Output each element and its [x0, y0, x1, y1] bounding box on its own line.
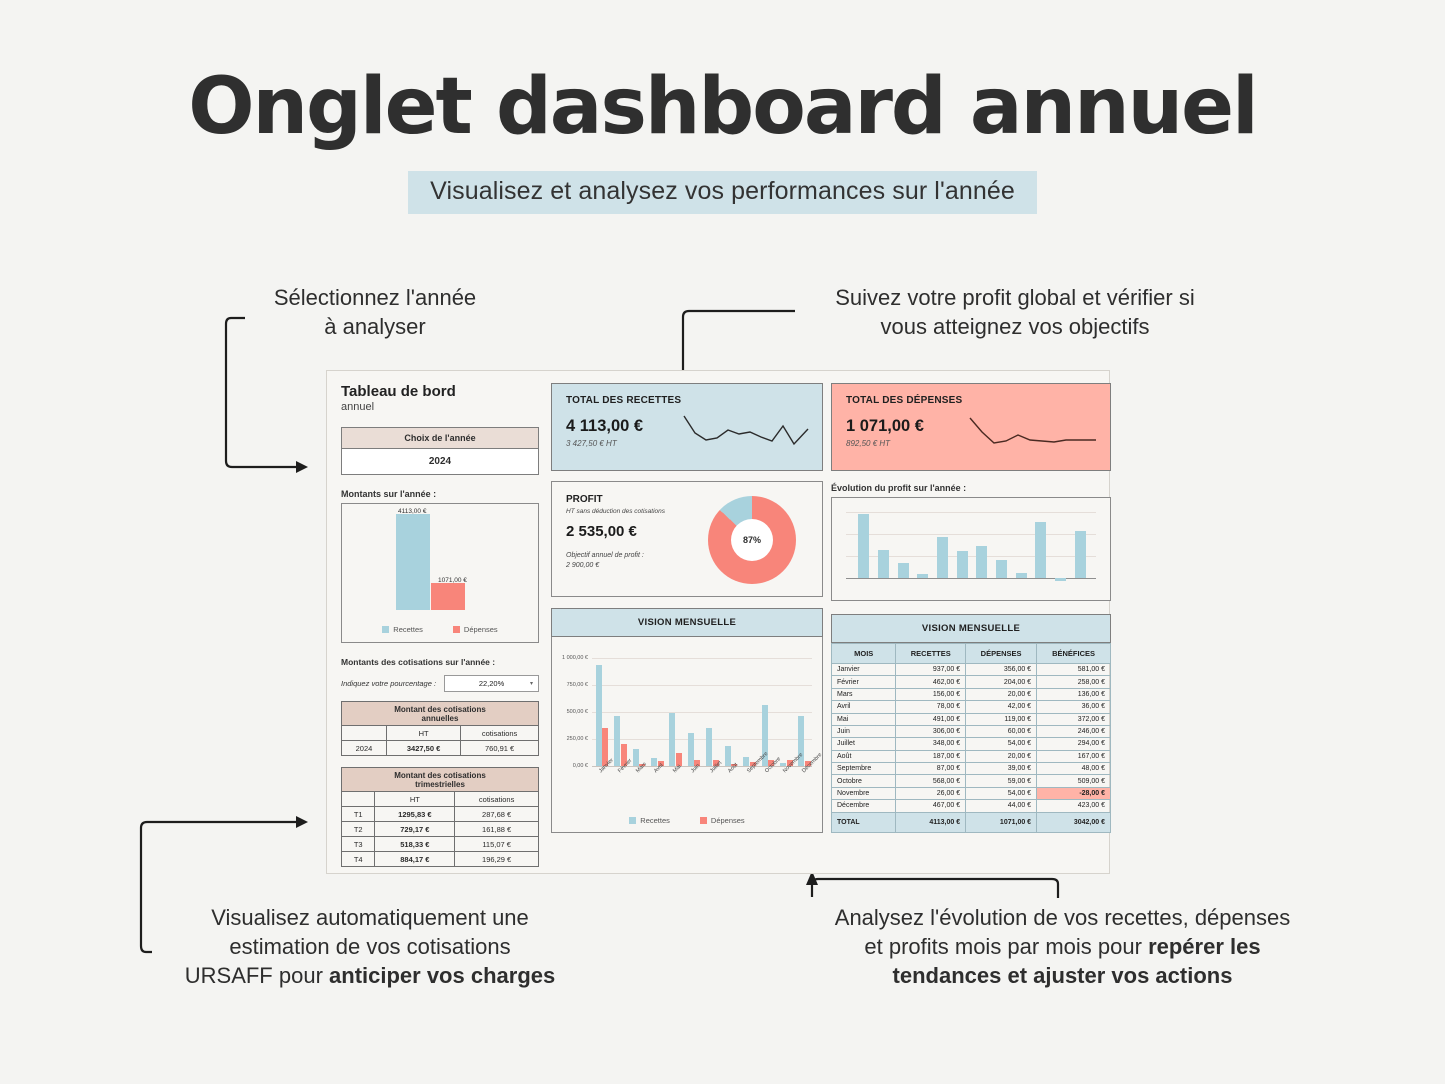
dashboard-heading: Tableau de bord annuel — [341, 383, 539, 413]
cell-benefices: 36,00 € — [1037, 701, 1111, 713]
cell-depenses: 44,00 € — [966, 800, 1037, 812]
cell-recettes: 568,00 € — [896, 775, 966, 787]
evol-bar-3 — [917, 574, 928, 578]
col-recettes: RECETTES — [896, 644, 966, 664]
cell-benefices: 136,00 € — [1037, 688, 1111, 700]
cell-benefices: 48,00 € — [1037, 763, 1111, 775]
cell-depenses: 39,00 € — [966, 763, 1037, 775]
cotis-trim-t2-label: T2 — [342, 822, 375, 837]
cell-mois: Décembre — [832, 800, 896, 812]
table-row: Avril78,00 €42,00 €36,00 € — [832, 701, 1111, 713]
profit-donut-percent: 87% — [731, 519, 773, 561]
evol-bar-9 — [1035, 522, 1046, 578]
table-row: Septembre87,00 €39,00 €48,00 € — [832, 763, 1111, 775]
year-selector-value[interactable]: 2024 — [342, 449, 538, 474]
evolution-chart-label: Évolution du profit sur l'année : — [831, 483, 1111, 493]
cotis-trim-title: Montant des cotisationstrimestrielles — [342, 768, 539, 792]
legend-swatch-recettes — [629, 817, 636, 824]
mc-bar-recettes-4 — [669, 713, 675, 766]
total-benefices: 3042,00 € — [1037, 812, 1111, 832]
cotis-trim-t4-cot: 196,29 € — [455, 852, 539, 867]
cell-depenses: 42,00 € — [966, 701, 1037, 713]
legend-swatch-depenses — [453, 626, 460, 633]
dashboard-heading-sub: annuel — [341, 401, 539, 413]
mc-bar-recettes-7 — [725, 746, 731, 766]
legend-item-recettes: Recettes — [629, 816, 670, 825]
cell-benefices: 423,00 € — [1037, 800, 1111, 812]
cell-mois: Mars — [832, 688, 896, 700]
dashboard-right-column: TOTAL DES DÉPENSES 1 071,00 € 892,50 € H… — [831, 383, 1111, 833]
evol-bar-6 — [976, 546, 987, 578]
cell-depenses: 20,00 € — [966, 688, 1037, 700]
mc-bar-recettes-6 — [706, 728, 712, 766]
cell-recettes: 348,00 € — [896, 738, 966, 750]
cell-recettes: 156,00 € — [896, 688, 966, 700]
cell-recettes: 937,00 € — [896, 664, 966, 676]
mc-ytick-750: 750,00 € — [554, 682, 588, 688]
total-label: TOTAL — [832, 812, 896, 832]
cell-depenses: 54,00 € — [966, 787, 1037, 799]
cell-depenses: 119,00 € — [966, 713, 1037, 725]
dashboard-heading-main: Tableau de bord — [341, 383, 539, 400]
cell-benefices: 294,00 € — [1037, 738, 1111, 750]
cotis-trim-col-cot: cotisations — [455, 792, 539, 807]
cell-mois: Janvier — [832, 664, 896, 676]
cell-depenses: 204,00 € — [966, 676, 1037, 688]
annual-chart-legend: Recettes Dépenses — [342, 625, 538, 634]
percentage-label: Indiquez votre pourcentage : — [341, 679, 436, 688]
table-total-row: TOTAL4113,00 €1071,00 €3042,00 € — [832, 812, 1111, 832]
table-row: Juillet348,00 €54,00 €294,00 € — [832, 738, 1111, 750]
cell-recettes: 467,00 € — [896, 800, 966, 812]
card-recettes-title: TOTAL DES RECETTES — [566, 395, 808, 406]
evol-bar-5 — [957, 551, 968, 578]
percentage-value: 22,20% — [479, 679, 504, 688]
col-benefices: BÉNÉFICES — [1037, 644, 1111, 664]
cell-mois: Juin — [832, 725, 896, 737]
recettes-sparkline — [682, 412, 810, 459]
cell-recettes: 306,00 € — [896, 725, 966, 737]
cotis-trim-t4-ht: 884,17 € — [375, 852, 455, 867]
cotis-trim-t4-label: T4 — [342, 852, 375, 867]
cell-mois: Juillet — [832, 738, 896, 750]
cell-depenses: 20,00 € — [966, 750, 1037, 762]
legend-swatch-recettes — [382, 626, 389, 633]
dashboard-frame: Tableau de bord annuel Choix de l'année … — [326, 370, 1110, 874]
cell-recettes: 462,00 € — [896, 676, 966, 688]
vision-mensuelle-chart-title: VISION MENSUELLE — [551, 608, 823, 637]
evol-bar-8 — [1016, 573, 1027, 578]
cotis-annuelles-col-ht: HT — [386, 726, 460, 741]
table-row: Mars156,00 €20,00 €136,00 € — [832, 688, 1111, 700]
annual-amounts-chart: 4113,00 € 1071,00 € Recettes Dépenses — [341, 503, 539, 643]
table-row: T1 1295,83 € 287,68 € — [342, 807, 539, 822]
table-row: Octobre568,00 €59,00 €509,00 € — [832, 775, 1111, 787]
cell-depenses: 54,00 € — [966, 738, 1037, 750]
vision-mensuelle-table-title: VISION MENSUELLE — [831, 614, 1111, 643]
table-row: T4 884,17 € 196,29 € — [342, 852, 539, 867]
mc-ytick-500: 500,00 € — [554, 709, 588, 715]
cell-mois: Novembre — [832, 787, 896, 799]
cell-mois: Septembre — [832, 763, 896, 775]
mc-bar-recettes-1 — [614, 716, 620, 766]
cell-recettes: 26,00 € — [896, 787, 966, 799]
legend-item-depenses: Dépenses — [700, 816, 745, 825]
evol-bar-7 — [996, 560, 1007, 578]
table-row: Mai491,00 €119,00 €372,00 € — [832, 713, 1111, 725]
table-row: Janvier937,00 €356,00 €581,00 € — [832, 664, 1111, 676]
vision-mensuelle-chart: 1 000,00 € 750,00 € 500,00 € 250,00 € 0,… — [551, 637, 823, 833]
total-depenses: 1071,00 € — [966, 812, 1037, 832]
cotis-annuelles-col-blank — [342, 726, 387, 741]
depenses-sparkline — [968, 412, 1098, 459]
table-row: Août187,00 €20,00 €167,00 € — [832, 750, 1111, 762]
cell-depenses: 59,00 € — [966, 775, 1037, 787]
mc-ytick-0: 0,00 € — [554, 763, 588, 769]
table-row: T2 729,17 € 161,88 € — [342, 822, 539, 837]
cotis-trim-t3-label: T3 — [342, 837, 375, 852]
cotis-trim-t1-cot: 287,68 € — [455, 807, 539, 822]
mc-ytick-250: 250,00 € — [554, 736, 588, 742]
evol-bar-11 — [1075, 531, 1086, 578]
evol-bar-0 — [858, 514, 869, 578]
cell-recettes: 78,00 € — [896, 701, 966, 713]
cotis-trim-t1-ht: 1295,83 € — [375, 807, 455, 822]
cell-benefices: -28,00 € — [1037, 787, 1111, 799]
table-row: Novembre26,00 €54,00 €-28,00 € — [832, 787, 1111, 799]
cotis-trim-t3-ht: 518,33 € — [375, 837, 455, 852]
cell-benefices: 246,00 € — [1037, 725, 1111, 737]
cotis-annuelles-col-cot: cotisations — [461, 726, 539, 741]
cell-benefices: 372,00 € — [1037, 713, 1111, 725]
cell-recettes: 187,00 € — [896, 750, 966, 762]
profit-donut-chart: 87% — [708, 496, 796, 584]
cotis-annuelles-title: Montant des cotisationsannuelles — [342, 702, 539, 726]
cotisations-trimestrielles-table: Montant des cotisationstrimestrielles HT… — [341, 767, 539, 867]
card-depenses-title: TOTAL DES DÉPENSES — [846, 395, 1096, 406]
legend-item-recettes: Recettes — [382, 625, 423, 634]
cell-recettes: 491,00 € — [896, 713, 966, 725]
evol-bar-4 — [937, 537, 948, 578]
mc-bar-recettes-2 — [633, 749, 639, 766]
annual-chart-label: Montants sur l'année : — [341, 489, 539, 499]
evol-bar-1 — [878, 550, 889, 578]
mc-bar-recettes-0 — [596, 665, 602, 766]
cell-depenses: 60,00 € — [966, 725, 1037, 737]
cell-mois: Août — [832, 750, 896, 762]
col-mois: MOIS — [832, 644, 896, 664]
cell-mois: Février — [832, 676, 896, 688]
cotisations-section-label: Montants des cotisations sur l'année : — [341, 657, 539, 667]
cotis-annuelles-year: 2024 — [342, 741, 387, 756]
mc-bar-recettes-3 — [651, 758, 657, 766]
cotis-trim-col-ht: HT — [375, 792, 455, 807]
table-row: Décembre467,00 €44,00 €423,00 € — [832, 800, 1111, 812]
vision-mensuelle-legend: Recettes Dépenses — [552, 816, 822, 825]
cotisations-annuelles-table: Montant des cotisationsannuelles HT coti… — [341, 701, 539, 756]
table-row: T3 518,33 € 115,07 € — [342, 837, 539, 852]
mc-ytick-1000: 1 000,00 € — [554, 655, 588, 661]
table-header-row: MOIS RECETTES DÉPENSES BÉNÉFICES — [832, 644, 1111, 664]
cotis-annuelles-ht: 3427,50 € — [386, 741, 460, 756]
vision-mensuelle-table: MOIS RECETTES DÉPENSES BÉNÉFICES Janvier… — [831, 643, 1111, 833]
annual-bar-depenses — [431, 583, 465, 610]
legend-swatch-depenses — [700, 817, 707, 824]
cell-benefices: 258,00 € — [1037, 676, 1111, 688]
cell-recettes: 87,00 € — [896, 763, 966, 775]
dashboard-left-column: Tableau de bord annuel Choix de l'année … — [341, 383, 539, 867]
year-selector[interactable]: Choix de l'année 2024 — [341, 427, 539, 475]
cotis-trim-t1-label: T1 — [342, 807, 375, 822]
card-total-depenses: TOTAL DES DÉPENSES 1 071,00 € 892,50 € H… — [831, 383, 1111, 471]
cell-benefices: 167,00 € — [1037, 750, 1111, 762]
slide-root: Onglet dashboard annuel Visualisez et an… — [0, 0, 1445, 1084]
legend-item-depenses: Dépenses — [453, 625, 498, 634]
table-row: Juin306,00 €60,00 €246,00 € — [832, 725, 1111, 737]
year-selector-label: Choix de l'année — [342, 428, 538, 449]
table-row: Février462,00 €204,00 €258,00 € — [832, 676, 1111, 688]
card-total-recettes: TOTAL DES RECETTES 4 113,00 € 3 427,50 €… — [551, 383, 823, 471]
cotis-trim-col-blank — [342, 792, 375, 807]
total-recettes: 4113,00 € — [896, 812, 966, 832]
cell-benefices: 509,00 € — [1037, 775, 1111, 787]
mc-bar-recettes-5 — [688, 733, 694, 766]
evol-bar-10 — [1055, 578, 1066, 581]
cell-mois: Avril — [832, 701, 896, 713]
annual-bar-recettes — [396, 514, 430, 610]
cell-mois: Mai — [832, 713, 896, 725]
col-depenses: DÉPENSES — [966, 644, 1037, 664]
evolution-profit-chart — [831, 497, 1111, 601]
cell-depenses: 356,00 € — [966, 664, 1037, 676]
evol-bar-2 — [898, 563, 909, 578]
card-profit: PROFIT HT sans déduction des cotisations… — [551, 481, 823, 597]
percentage-row: Indiquez votre pourcentage : 22,20% ▾ — [341, 675, 539, 692]
cotis-trim-t2-ht: 729,17 € — [375, 822, 455, 837]
chevron-down-icon[interactable]: ▾ — [530, 680, 533, 687]
mc-bar-recettes-8 — [743, 757, 749, 766]
percentage-select[interactable]: 22,20% ▾ — [444, 675, 539, 692]
cell-benefices: 581,00 € — [1037, 664, 1111, 676]
cotis-trim-t2-cot: 161,88 € — [455, 822, 539, 837]
cell-mois: Octobre — [832, 775, 896, 787]
dashboard-middle-column: TOTAL DES RECETTES 4 113,00 € 3 427,50 €… — [551, 383, 823, 833]
cotis-annuelles-cot: 760,91 € — [461, 741, 539, 756]
table-row: 2024 3427,50 € 760,91 € — [342, 741, 539, 756]
cotis-trim-t3-cot: 115,07 € — [455, 837, 539, 852]
